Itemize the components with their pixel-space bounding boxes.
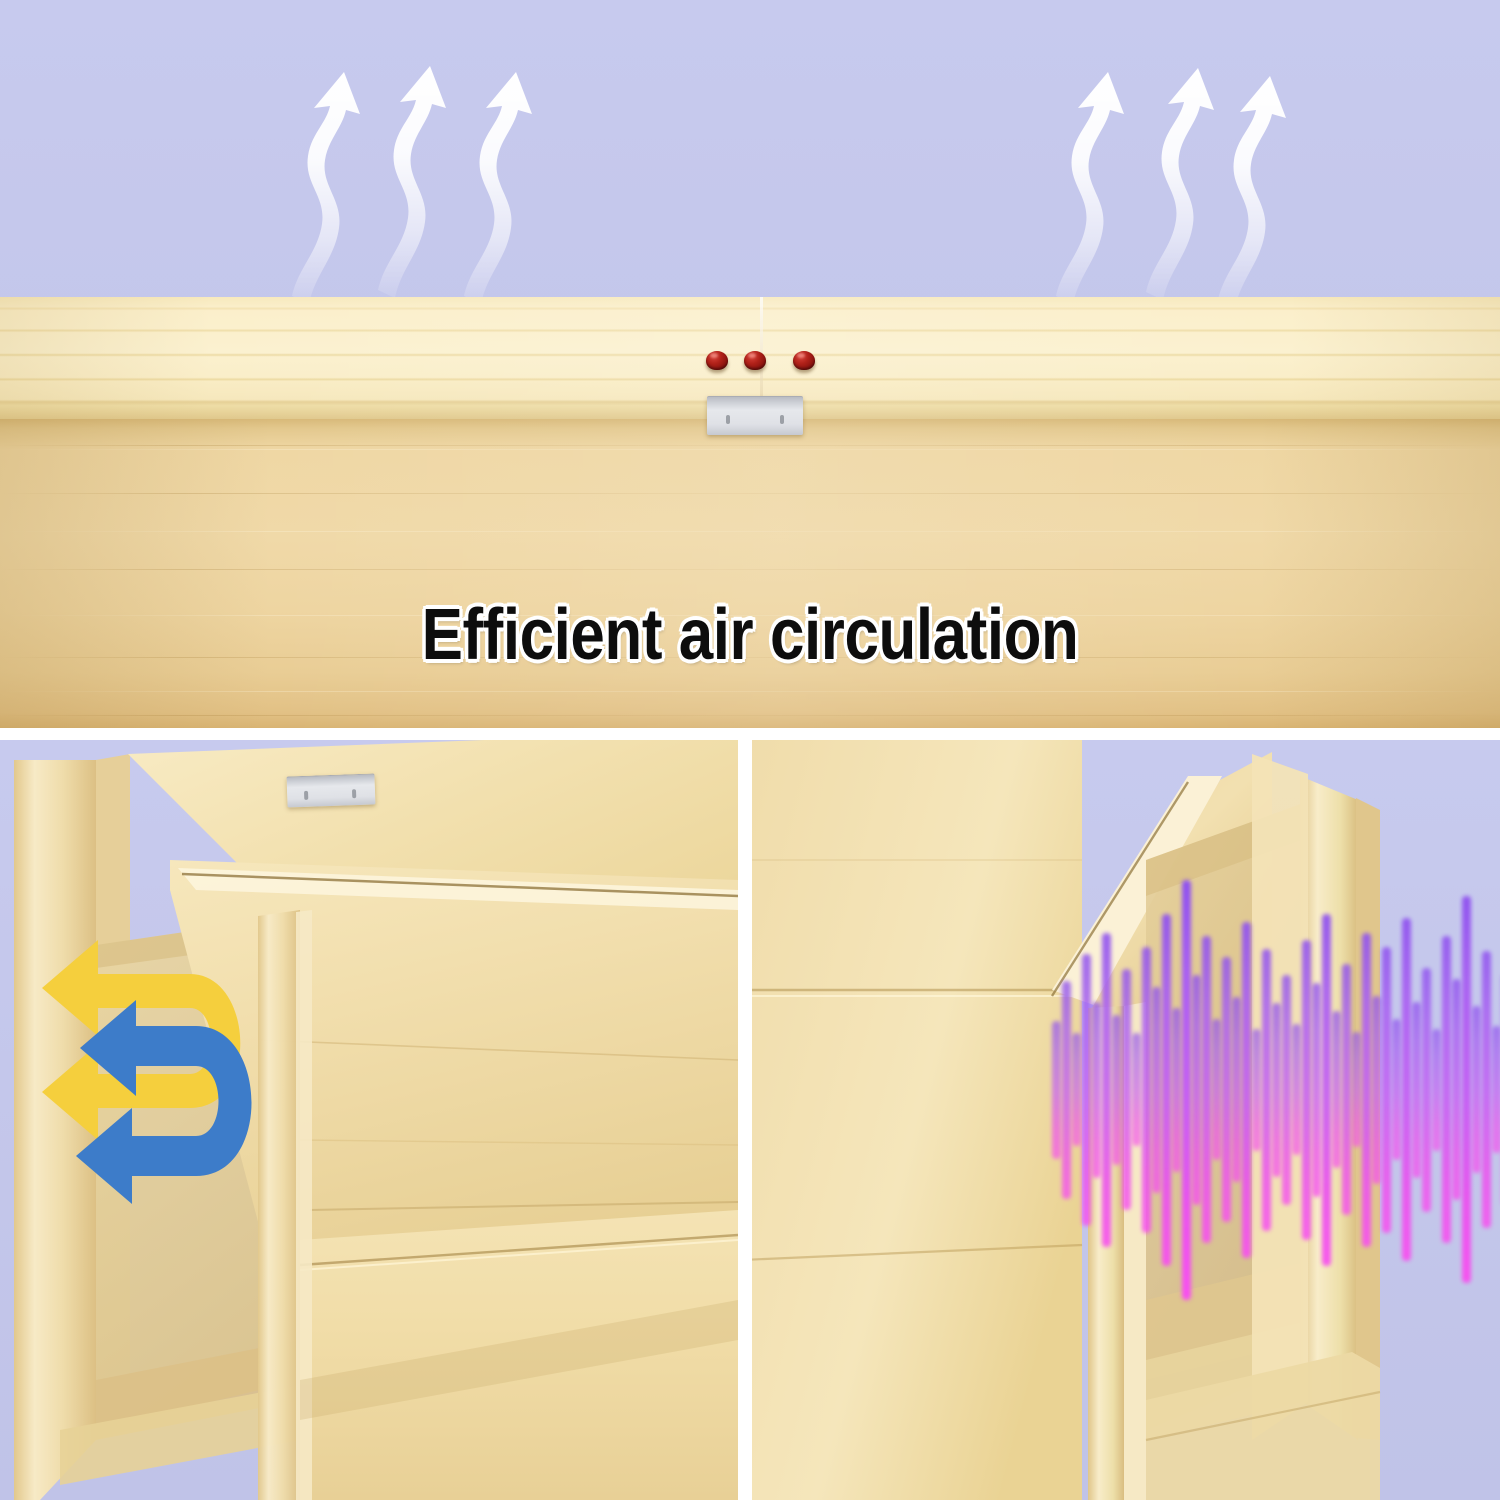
metal-bracket-top [707,396,803,435]
soundwave-bar [1282,975,1291,1205]
soundwave-bar [1462,896,1471,1283]
soundwave-bar [1202,936,1211,1243]
soundwave-bar [1262,949,1271,1231]
led-indicator-1 [706,351,728,370]
infographic-canvas: Efficient air circulation [0,0,1500,1500]
soundwave-bar [1142,947,1151,1233]
soundwave-bar [1442,936,1451,1243]
soundwave-bar [1272,1003,1281,1177]
led-indicator-3 [793,351,815,370]
soundwave-bar [1342,964,1351,1215]
soundwave-bar [1162,914,1171,1266]
soundwave-bar [1242,922,1251,1258]
soundwave-bar [1372,996,1381,1184]
soundwave-bar [1112,1015,1121,1165]
soundwave-bar [1052,1021,1061,1159]
soundwave-bar [1452,979,1461,1200]
soundwave-bar [1062,981,1071,1199]
soundwave-bar [1102,933,1111,1247]
caption-air-circulation: Efficient air circulation [105,596,1395,674]
soundwave-bar [1172,1008,1181,1172]
soundwave-bar [1232,997,1241,1182]
soundwave-bar [1082,954,1091,1226]
panel-acoustic-insulation: Excellent acoustic insulation [752,740,1500,1500]
soundwave-bar [1332,1011,1341,1168]
soundwave-bar [1352,1032,1361,1147]
soundwave-bar [1362,933,1371,1247]
soundwave-bar [1292,1024,1301,1155]
metal-bracket-left-panel [286,773,375,807]
soundwave-bar [1412,1002,1421,1178]
soundwave-bar [1122,969,1131,1210]
soundwave-bar [1182,880,1191,1300]
soundwave-bar [1252,1029,1261,1151]
lid-front-face [0,419,1500,728]
soundwave-bar [1222,957,1231,1222]
soundwave-bar [1152,987,1161,1193]
panel-heat-retention: Exceptional heat retention [0,740,738,1500]
soundwave-bar [1492,1026,1500,1153]
soundwave-bar [1322,914,1331,1266]
soundwave-bar [1382,947,1391,1233]
soundwave-bar [1432,1029,1441,1151]
air-circulation-arrows [40,940,300,1220]
soundwave-bar [1312,983,1321,1197]
soundwave-bar [1302,940,1311,1240]
soundwave-bar [1392,1019,1401,1160]
soundwave-bar [1072,1033,1081,1146]
soundwave-bar [1192,975,1201,1205]
soundwave-bar [1212,1019,1221,1160]
soundwave-bar [1092,1002,1101,1178]
panel-air-circulation: Efficient air circulation [0,0,1500,728]
soundwave-bars [1052,880,1500,1300]
soundwave-bar [1472,1006,1481,1173]
soundwave-bar [1422,968,1431,1212]
soundwave-bar [1132,1033,1141,1146]
soundwave-bar [1402,918,1411,1261]
led-indicator-2 [744,351,766,370]
soundwave-bar [1482,951,1491,1228]
